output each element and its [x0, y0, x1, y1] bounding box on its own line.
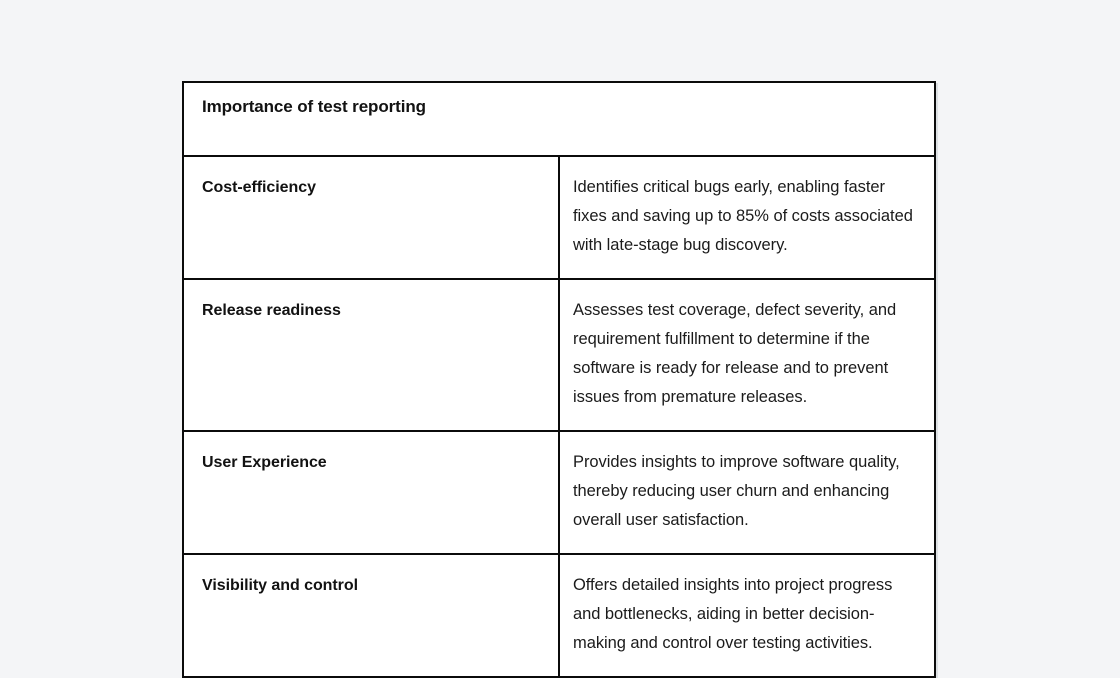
- page-canvas: Importance of test reporting Cost-effici…: [0, 0, 1120, 609]
- row-label: Visibility and control: [202, 571, 542, 600]
- table-row: Visibility and control Offers detailed i…: [184, 554, 934, 676]
- table-row: User Experience Provides insights to imp…: [184, 431, 934, 554]
- row-description-cell: Offers detailed insights into project pr…: [559, 554, 934, 676]
- row-label-cell: Visibility and control: [184, 554, 559, 676]
- row-description: Provides insights to improve software qu…: [573, 448, 914, 535]
- row-label: User Experience: [202, 448, 542, 477]
- table-header-row: Importance of test reporting: [184, 83, 934, 156]
- row-label-cell: Release readiness: [184, 279, 559, 431]
- row-label: Cost-efficiency: [202, 173, 542, 202]
- importance-of-test-reporting-table: Importance of test reporting Cost-effici…: [182, 81, 936, 678]
- table-header-cell: Importance of test reporting: [184, 83, 934, 156]
- table-title: Importance of test reporting: [202, 96, 916, 118]
- row-label-cell: User Experience: [184, 431, 559, 554]
- row-description: Identifies critical bugs early, enabling…: [573, 173, 914, 260]
- row-description: Assesses test coverage, defect severity,…: [573, 296, 914, 412]
- table-body: Importance of test reporting Cost-effici…: [184, 83, 934, 676]
- table-row: Cost-efficiency Identifies critical bugs…: [184, 156, 934, 279]
- row-label-cell: Cost-efficiency: [184, 156, 559, 279]
- row-label: Release readiness: [202, 296, 542, 325]
- row-description-cell: Assesses test coverage, defect severity,…: [559, 279, 934, 431]
- row-description-cell: Identifies critical bugs early, enabling…: [559, 156, 934, 279]
- row-description-cell: Provides insights to improve software qu…: [559, 431, 934, 554]
- table-row: Release readiness Assesses test coverage…: [184, 279, 934, 431]
- row-description: Offers detailed insights into project pr…: [573, 571, 914, 658]
- table: Importance of test reporting Cost-effici…: [184, 83, 934, 676]
